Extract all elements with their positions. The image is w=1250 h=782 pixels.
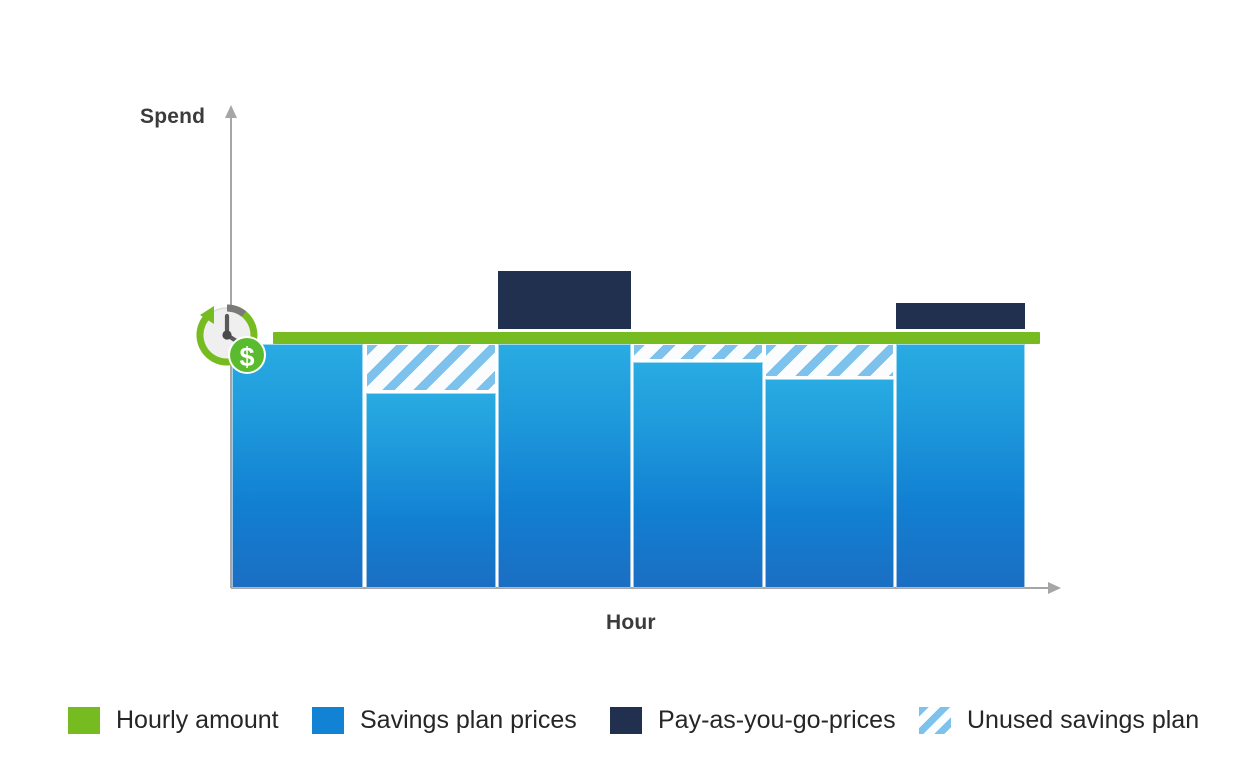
chart-legend: Hourly amountSavings plan pricesPay-as-y… — [0, 696, 1250, 750]
bar-segment-unused-savings-plan — [765, 344, 894, 377]
bar-segment-unused-savings-plan — [366, 344, 496, 391]
legend-unused-savings-plan-label: Unused savings plan — [967, 706, 1199, 735]
hourly-amount-line — [273, 332, 1040, 344]
legend-hourly-amount-swatch — [68, 707, 100, 734]
x-axis-title: Hour — [606, 611, 656, 635]
bar-hour-5[interactable] — [765, 108, 894, 588]
bar-segment-unused-savings-plan — [633, 344, 763, 360]
bar-segment-savings-plan — [633, 362, 763, 588]
bar-hour-3[interactable] — [498, 108, 631, 588]
legend-hourly-amount-label: Hourly amount — [116, 706, 279, 735]
legend-pay-as-you-go-prices-swatch — [610, 707, 642, 734]
legend-unused-savings-plan-swatch — [919, 707, 951, 734]
bar-segment-savings-plan — [896, 344, 1025, 588]
legend-pay-as-you-go-prices[interactable]: Pay-as-you-go-prices — [610, 696, 896, 744]
legend-savings-plan-prices-swatch — [312, 707, 344, 734]
plot-area — [231, 108, 1051, 588]
bar-segment-pay-as-you-go — [896, 303, 1025, 329]
bar-segment-savings-plan — [498, 344, 631, 588]
legend-savings-plan-prices-label: Savings plan prices — [360, 706, 577, 735]
bar-segment-savings-plan — [366, 393, 496, 588]
legend-hourly-amount[interactable]: Hourly amount — [68, 696, 279, 744]
dollar-glyph: $ — [239, 342, 254, 372]
legend-unused-savings-plan[interactable]: Unused savings plan — [919, 696, 1199, 744]
y-axis-title: Spend — [140, 105, 205, 129]
bar-hour-4[interactable] — [633, 108, 763, 588]
legend-pay-as-you-go-prices-label: Pay-as-you-go-prices — [658, 706, 896, 735]
clock-dollar-icon: $ — [192, 300, 270, 378]
chart-canvas: Spend Hour $ Hourly amountSavings plan p… — [0, 0, 1250, 782]
bar-segment-pay-as-you-go — [498, 271, 631, 329]
legend-savings-plan-prices[interactable]: Savings plan prices — [312, 696, 577, 744]
bar-hour-6[interactable] — [896, 108, 1025, 588]
bar-hour-2[interactable] — [366, 108, 496, 588]
bar-segment-savings-plan — [232, 344, 363, 588]
bar-segment-savings-plan — [765, 379, 894, 588]
